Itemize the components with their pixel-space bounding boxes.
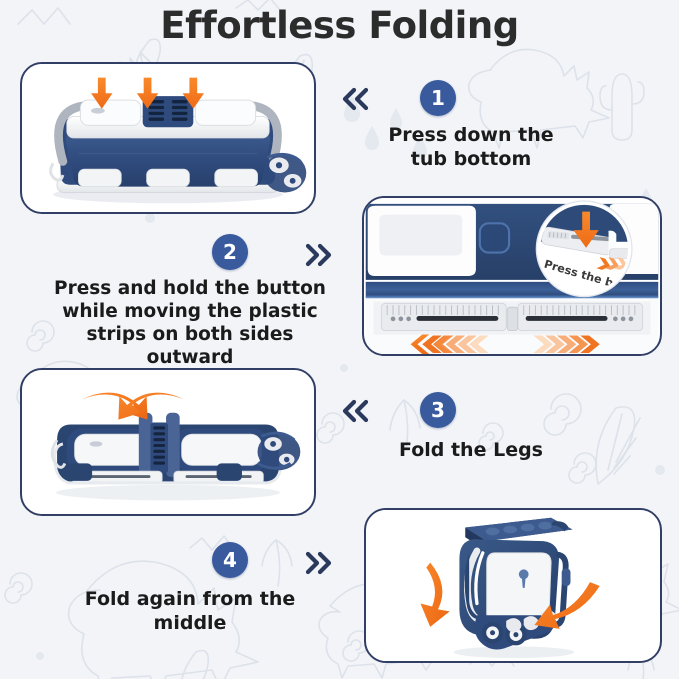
step-4-text: Fold again from the middle [50, 588, 330, 636]
chevron-right-icon [302, 242, 334, 268]
step-2-text: Press and hold the button while moving t… [50, 277, 330, 370]
page-title: Effortless Folding [0, 4, 679, 47]
step-4-photo-panel [364, 508, 662, 663]
step-1-badge: 1 [420, 80, 456, 116]
step-2-photo-panel: Press the button [362, 196, 662, 356]
step-3-text: Fold the Legs [346, 439, 596, 463]
chevron-right-icon [302, 550, 334, 576]
infographic-page: Effortless Folding [0, 0, 679, 679]
step-3-caption: 3 Fold the Legs [340, 388, 660, 498]
step-2-badge: 2 [212, 234, 248, 270]
step-3-photo-panel [20, 368, 316, 516]
step-2-caption: 2 Press and hold the button while moving… [12, 230, 342, 355]
step-1-caption: 1 Press down the tub bottom [340, 76, 660, 186]
step-4-caption: 4 Fold again from the middle [12, 538, 342, 648]
step-1-photo-panel [20, 62, 316, 214]
chevron-left-icon [340, 86, 372, 112]
step-3-badge: 3 [420, 392, 456, 428]
step-4-badge: 4 [212, 542, 248, 578]
chevron-left-icon [340, 398, 372, 424]
step-1-text: Press down the tub bottom [346, 124, 596, 172]
